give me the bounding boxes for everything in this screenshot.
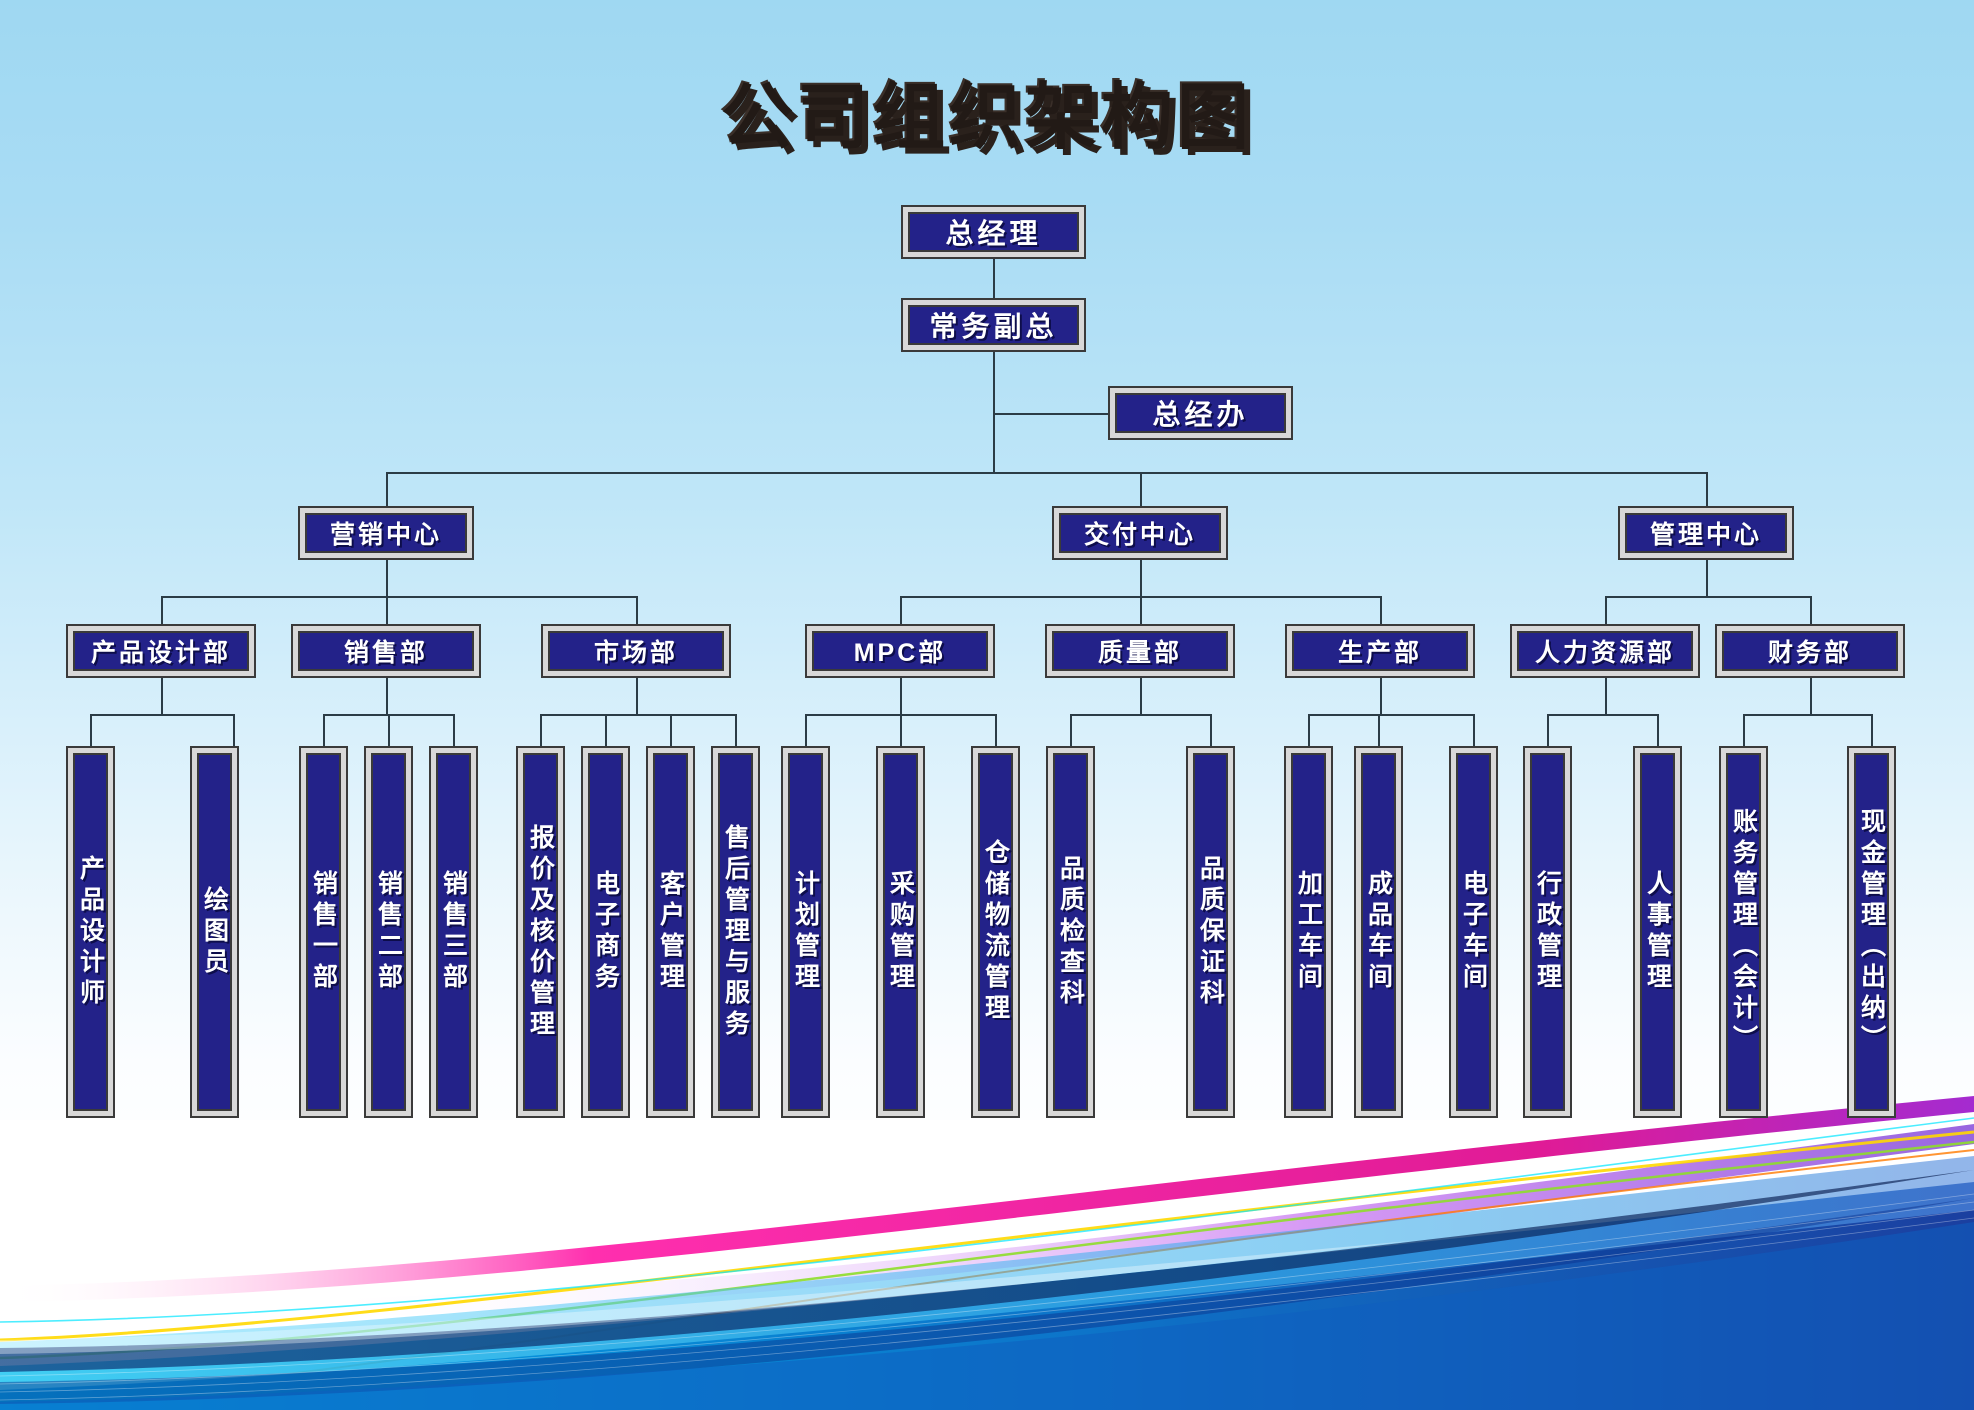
connector-to-quality-assurance bbox=[1210, 714, 1212, 746]
connector-to-market-dept bbox=[636, 596, 638, 626]
node-leaf-personnel-mgmt[interactable]: 人事管理 bbox=[1633, 746, 1682, 1118]
node-management-center[interactable]: 管理中心 bbox=[1618, 506, 1794, 560]
node-leaf-product-designer[interactable]: 产品设计师 bbox=[66, 746, 115, 1118]
connector-to-machining-workshop bbox=[1308, 714, 1310, 746]
node-leaf-plan-mgmt[interactable]: 计划管理 bbox=[781, 746, 830, 1118]
node-general-manager-label: 总经理 bbox=[908, 212, 1079, 252]
connector-to-electronics-workshop bbox=[1473, 714, 1475, 746]
connector-product-design-leaf-bus bbox=[90, 714, 233, 716]
node-dept-product-design[interactable]: 产品设计部 bbox=[66, 624, 256, 678]
connector-to-cashier bbox=[1871, 714, 1873, 746]
node-leaf-sales-2-label: 销售二部 bbox=[371, 753, 406, 1111]
connector-to-warehouse-logistics bbox=[995, 714, 997, 746]
node-dept-finance[interactable]: 财务部 bbox=[1715, 624, 1905, 678]
node-leaf-finished-workshop-label: 成品车间 bbox=[1361, 753, 1396, 1111]
node-leaf-draftsman[interactable]: 绘图员 bbox=[190, 746, 239, 1118]
connector-to-customer-mgmt bbox=[670, 714, 672, 746]
connector-to-product-design-dept bbox=[161, 596, 163, 626]
connector-to-product-designer bbox=[90, 714, 92, 746]
node-leaf-draftsman-label: 绘图员 bbox=[197, 753, 232, 1111]
connector-quality-leaf-bus bbox=[1070, 714, 1210, 716]
node-marketing-center[interactable]: 营销中心 bbox=[298, 506, 474, 560]
connector-trunk-to-gm-office bbox=[993, 413, 1108, 415]
node-dept-quality-label: 质量部 bbox=[1052, 631, 1228, 671]
connector-quality-down bbox=[1140, 678, 1142, 714]
connector-to-personnel-mgmt bbox=[1657, 714, 1659, 746]
node-dept-market-label: 市场部 bbox=[548, 631, 724, 671]
node-leaf-sales-1[interactable]: 销售一部 bbox=[299, 746, 348, 1118]
connector-management-center-down bbox=[1706, 560, 1708, 596]
node-delivery-center-label: 交付中心 bbox=[1059, 513, 1221, 553]
connector-to-sales-2 bbox=[388, 714, 390, 746]
connector-to-accounting bbox=[1743, 714, 1745, 746]
node-leaf-product-designer-label: 产品设计师 bbox=[73, 753, 108, 1111]
node-dept-mpc[interactable]: MPC部 bbox=[805, 624, 995, 678]
node-gm-office-label: 总经办 bbox=[1115, 393, 1286, 433]
connector-hr-leaf-bus bbox=[1547, 714, 1657, 716]
node-leaf-warehouse-logistics-label: 仓储物流管理 bbox=[978, 753, 1013, 1111]
connector-sales-down bbox=[386, 678, 388, 714]
connector-production-leaf-bus bbox=[1308, 714, 1473, 716]
connector-production-down bbox=[1380, 678, 1382, 714]
node-leaf-quality-assurance[interactable]: 品质保证科 bbox=[1186, 746, 1235, 1118]
node-dept-mpc-label: MPC部 bbox=[812, 631, 988, 671]
connector-finance-leaf-bus bbox=[1743, 714, 1871, 716]
connector-bus-to-marketing-center bbox=[386, 472, 388, 508]
connector-delivery-center-down bbox=[1140, 560, 1142, 596]
node-dept-market[interactable]: 市场部 bbox=[541, 624, 731, 678]
node-dept-quality[interactable]: 质量部 bbox=[1045, 624, 1235, 678]
connector-to-finished-workshop bbox=[1378, 714, 1380, 746]
connector-mpc-down bbox=[900, 678, 902, 714]
connector-to-quote-pricing bbox=[540, 714, 542, 746]
node-dept-production-label: 生产部 bbox=[1292, 631, 1468, 671]
connector-to-production-dept bbox=[1380, 596, 1382, 626]
page-title: 公司组织架构图 bbox=[0, 58, 1974, 163]
node-deputy-general-manager-label: 常务副总 bbox=[908, 305, 1079, 345]
connector-to-quality-dept bbox=[1140, 596, 1142, 626]
node-dept-product-design-label: 产品设计部 bbox=[73, 631, 249, 671]
node-dept-hr-label: 人力资源部 bbox=[1517, 631, 1693, 671]
connector-deputy-trunk bbox=[993, 350, 995, 472]
node-leaf-quote-pricing[interactable]: 报价及核价管理 bbox=[516, 746, 565, 1118]
node-deputy-general-manager[interactable]: 常务副总 bbox=[901, 298, 1086, 352]
node-leaf-sales-3-label: 销售三部 bbox=[436, 753, 471, 1111]
connector-to-plan-mgmt bbox=[805, 714, 807, 746]
node-leaf-after-sales-label: 售后管理与服务 bbox=[718, 753, 753, 1111]
node-leaf-purchase-mgmt-label: 采购管理 bbox=[883, 753, 918, 1111]
node-leaf-quote-pricing-label: 报价及核价管理 bbox=[523, 753, 558, 1111]
connector-to-sales-dept bbox=[386, 596, 388, 626]
node-leaf-finished-workshop[interactable]: 成品车间 bbox=[1354, 746, 1403, 1118]
node-leaf-quality-inspection-label: 品质检查科 bbox=[1053, 753, 1088, 1111]
connector-market-leaf-bus bbox=[540, 714, 735, 716]
node-leaf-ecommerce[interactable]: 电子商务 bbox=[581, 746, 630, 1118]
connector-hr-down bbox=[1605, 678, 1607, 714]
org-chart-canvas: 公司组织架构图 bbox=[0, 0, 1974, 1410]
node-leaf-machining-workshop-label: 加工车间 bbox=[1291, 753, 1326, 1111]
node-leaf-after-sales[interactable]: 售后管理与服务 bbox=[711, 746, 760, 1118]
node-gm-office[interactable]: 总经办 bbox=[1108, 386, 1293, 440]
connector-to-hr-dept bbox=[1605, 596, 1607, 626]
node-leaf-warehouse-logistics[interactable]: 仓储物流管理 bbox=[971, 746, 1020, 1118]
connector-to-quality-inspection bbox=[1070, 714, 1072, 746]
node-leaf-purchase-mgmt[interactable]: 采购管理 bbox=[876, 746, 925, 1118]
connector-to-finance-dept bbox=[1810, 596, 1812, 626]
connector-to-after-sales bbox=[735, 714, 737, 746]
node-leaf-sales-3[interactable]: 销售三部 bbox=[429, 746, 478, 1118]
node-leaf-quality-assurance-label: 品质保证科 bbox=[1193, 753, 1228, 1111]
connector-management-dept-bus bbox=[1605, 596, 1810, 598]
connector-to-mpc-dept bbox=[900, 596, 902, 626]
node-delivery-center[interactable]: 交付中心 bbox=[1052, 506, 1228, 560]
connector-bus-to-management-center bbox=[1706, 472, 1708, 508]
connector-to-sales-1 bbox=[323, 714, 325, 746]
node-leaf-cashier[interactable]: 现金管理（出纳） bbox=[1847, 746, 1896, 1118]
node-leaf-accounting-label: 账务管理（会计） bbox=[1726, 753, 1761, 1111]
node-leaf-admin-mgmt-label: 行政管理 bbox=[1530, 753, 1565, 1111]
node-leaf-cashier-label: 现金管理（出纳） bbox=[1854, 753, 1889, 1111]
node-leaf-admin-mgmt[interactable]: 行政管理 bbox=[1523, 746, 1572, 1118]
node-dept-hr[interactable]: 人力资源部 bbox=[1510, 624, 1700, 678]
node-leaf-electronics-workshop-label: 电子车间 bbox=[1456, 753, 1491, 1111]
node-dept-production[interactable]: 生产部 bbox=[1285, 624, 1475, 678]
node-management-center-label: 管理中心 bbox=[1625, 513, 1787, 553]
node-general-manager[interactable]: 总经理 bbox=[901, 205, 1086, 259]
connector-to-draftsman bbox=[233, 714, 235, 746]
node-marketing-center-label: 营销中心 bbox=[305, 513, 467, 553]
node-leaf-sales-1-label: 销售一部 bbox=[306, 753, 341, 1111]
connector-to-purchase-mgmt bbox=[900, 714, 902, 746]
node-dept-sales[interactable]: 销售部 bbox=[291, 624, 481, 678]
node-leaf-sales-2[interactable]: 销售二部 bbox=[364, 746, 413, 1118]
connector-product-design-down bbox=[161, 678, 163, 714]
node-leaf-ecommerce-label: 电子商务 bbox=[588, 753, 623, 1111]
connector-marketing-center-down bbox=[386, 560, 388, 596]
node-leaf-customer-mgmt[interactable]: 客户管理 bbox=[646, 746, 695, 1118]
connector-finance-down bbox=[1810, 678, 1812, 714]
node-leaf-accounting[interactable]: 账务管理（会计） bbox=[1719, 746, 1768, 1118]
connector-market-down bbox=[636, 678, 638, 714]
node-dept-finance-label: 财务部 bbox=[1722, 631, 1898, 671]
node-leaf-customer-mgmt-label: 客户管理 bbox=[653, 753, 688, 1111]
connector-to-admin-mgmt bbox=[1547, 714, 1549, 746]
connector-marketing-dept-bus bbox=[161, 596, 636, 598]
node-leaf-electronics-workshop[interactable]: 电子车间 bbox=[1449, 746, 1498, 1118]
connector-bus-to-delivery-center bbox=[1140, 472, 1142, 508]
node-leaf-machining-workshop[interactable]: 加工车间 bbox=[1284, 746, 1333, 1118]
node-leaf-personnel-mgmt-label: 人事管理 bbox=[1640, 753, 1675, 1111]
connector-centers-bus bbox=[386, 472, 1706, 474]
node-leaf-quality-inspection[interactable]: 品质检查科 bbox=[1046, 746, 1095, 1118]
decorative-wave-graphic bbox=[0, 1090, 1974, 1410]
node-leaf-plan-mgmt-label: 计划管理 bbox=[788, 753, 823, 1111]
connector-to-sales-3 bbox=[453, 714, 455, 746]
connector-to-ecommerce bbox=[605, 714, 607, 746]
node-dept-sales-label: 销售部 bbox=[298, 631, 474, 671]
